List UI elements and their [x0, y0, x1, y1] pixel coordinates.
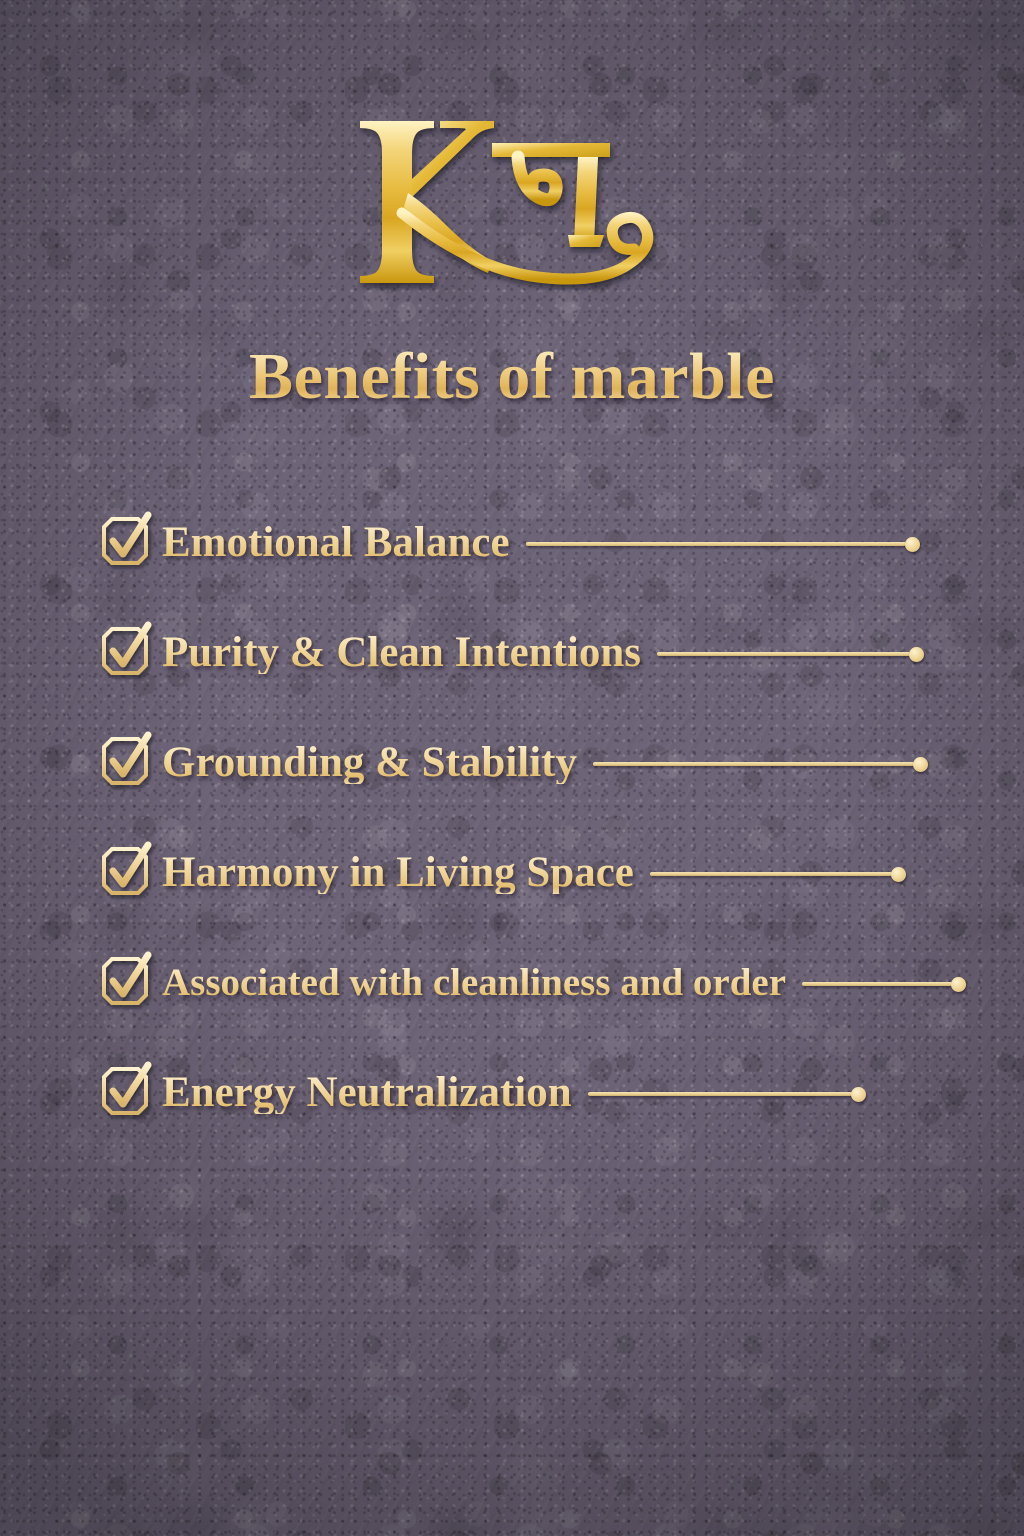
page-title: Benefits of marble — [0, 344, 1024, 410]
connector-line — [650, 872, 892, 876]
list-item[interactable]: Energy Neutralization — [0, 1037, 1024, 1147]
connector-line — [802, 982, 952, 986]
list-item[interactable]: Associated with cleanliness and order — [0, 927, 1024, 1037]
connector-leader — [593, 757, 1024, 772]
list-item[interactable]: Harmony in Living Space — [0, 817, 1024, 927]
list-item-label: Harmony in Living Space — [162, 851, 634, 894]
list-item[interactable]: Emotional Balance — [0, 487, 1024, 597]
connector-leader — [650, 867, 1024, 882]
connector-dot — [913, 757, 928, 772]
checked-checkbox-icon — [98, 1063, 152, 1119]
connector-dot — [905, 537, 920, 552]
poster-canvas: Benefits of marble — [0, 0, 1024, 1536]
checked-checkbox-icon — [98, 843, 152, 899]
connector-line — [526, 542, 906, 546]
benefits-list: Emotional Balance Purity & Clean Intenti… — [0, 487, 1024, 1147]
checked-checkbox-icon — [98, 623, 152, 679]
connector-leader — [802, 977, 1024, 992]
list-item-label: Purity & Clean Intentions — [162, 631, 641, 674]
checked-checkbox-icon — [98, 953, 152, 1009]
list-item[interactable]: Purity & Clean Intentions — [0, 597, 1024, 707]
list-item[interactable]: Grounding & Stability — [0, 707, 1024, 817]
poster-content: Benefits of marble — [0, 0, 1024, 1536]
list-item-label: Emotional Balance — [162, 521, 510, 564]
checked-checkbox-icon — [98, 513, 152, 569]
connector-leader — [526, 537, 1024, 552]
connector-dot — [951, 977, 966, 992]
connector-dot — [851, 1087, 866, 1102]
list-item-label: Energy Neutralization — [162, 1071, 572, 1114]
connector-line — [593, 762, 914, 766]
connector-leader — [588, 1087, 1024, 1102]
list-item-label: Associated with cleanliness and order — [162, 963, 786, 1002]
connector-dot — [891, 867, 906, 882]
connector-line — [588, 1092, 852, 1096]
list-item-label: Grounding & Stability — [162, 741, 577, 784]
connector-leader — [657, 647, 1024, 662]
checked-checkbox-icon — [98, 733, 152, 789]
connector-line — [657, 652, 910, 656]
kg-monogram-logo — [0, 96, 1024, 306]
connector-dot — [909, 647, 924, 662]
